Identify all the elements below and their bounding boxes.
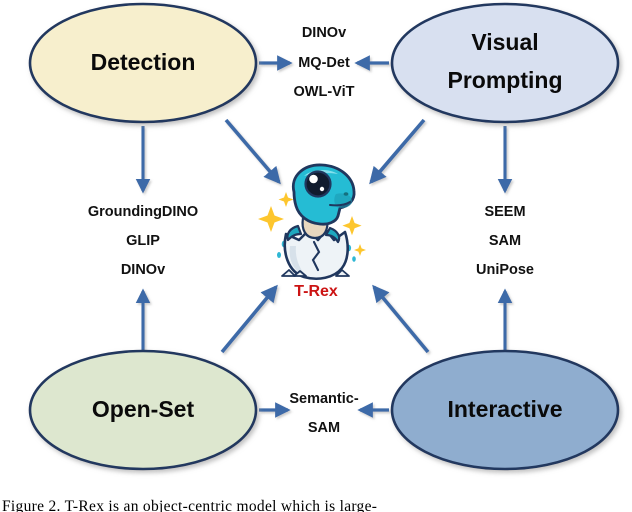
model-label-groundingdino: GroundingDINO — [88, 204, 198, 220]
node-open-set[interactable]: Open-Set — [30, 351, 256, 469]
sparkle-icon-small-right — [354, 244, 366, 256]
figure-container: Detection Visual Prompting Open-Set Inte… — [0, 0, 632, 512]
model-label-owlvit: OWL-ViT — [294, 84, 355, 100]
node-detection-label: Detection — [91, 49, 196, 75]
node-visual-prompting-label-line2: Prompting — [448, 67, 563, 93]
model-label-sam: SAM — [489, 233, 521, 249]
model-label-semantic-sam-line1: Semantic- — [289, 391, 358, 407]
node-detection[interactable]: Detection — [30, 4, 256, 122]
node-interactive[interactable]: Interactive — [392, 351, 618, 469]
model-group-left: GroundingDINO GLIP DINOv — [88, 204, 198, 278]
sparkle-icon-large-left — [258, 206, 284, 232]
trex-center-label: T-Rex — [294, 283, 338, 300]
model-label-dinov-top: DINOv — [302, 25, 346, 41]
model-label-semantic-sam-line2: SAM — [308, 420, 340, 436]
node-visual-prompting-label-line1: Visual — [471, 29, 538, 55]
sparkle-icon-small-left — [279, 192, 294, 207]
diagram-canvas: Detection Visual Prompting Open-Set Inte… — [0, 0, 632, 512]
droplet-icon-5 — [352, 256, 356, 262]
figure-caption-text: Figure 2. T-Rex is an object-centric mod… — [2, 498, 632, 512]
trex-eye-highlight-small — [320, 187, 324, 191]
model-group-bottom-center: Semantic- SAM — [289, 391, 358, 436]
trex-nostril — [344, 192, 349, 196]
figure-caption-clipped: Figure 2. T-Rex is an object-centric mod… — [0, 498, 632, 512]
arrow-interactive-to-trex — [374, 287, 428, 352]
model-group-right: SEEM SAM UniPose — [476, 204, 534, 278]
arrow-visual-prompting-to-trex — [371, 120, 424, 182]
trex-eye — [306, 172, 331, 197]
model-label-dinov-left: DINOv — [121, 262, 165, 278]
arrow-detection-to-trex — [226, 120, 279, 182]
node-visual-prompting[interactable]: Visual Prompting — [392, 4, 618, 122]
model-label-unipose: UniPose — [476, 262, 534, 278]
model-label-mqdet: MQ-Det — [298, 55, 350, 71]
model-label-seem: SEEM — [484, 204, 525, 220]
trex-mascot: T-Rex — [258, 165, 366, 300]
node-visual-prompting-ellipse[interactable] — [392, 4, 618, 122]
arrow-open-set-to-trex — [222, 287, 276, 352]
model-label-glip: GLIP — [126, 233, 160, 249]
droplet-icon-2 — [277, 252, 281, 258]
model-group-top-center: DINOv MQ-Det OWL-ViT — [294, 25, 355, 100]
node-interactive-label: Interactive — [447, 396, 562, 422]
node-open-set-label: Open-Set — [92, 396, 195, 422]
trex-eye-highlight-large — [309, 175, 318, 184]
